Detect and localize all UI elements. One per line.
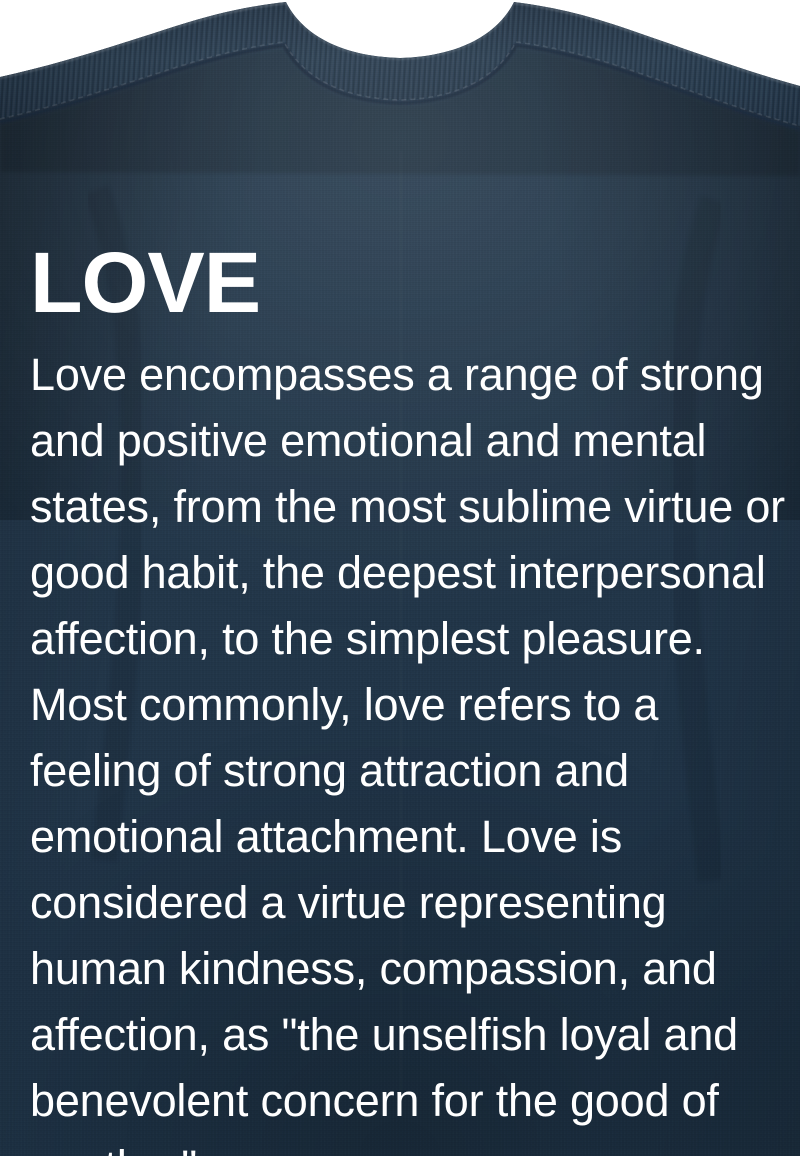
product-photo: LOVE Love encompasses a range of strong … <box>0 0 800 1156</box>
print-heading: LOVE <box>30 236 786 330</box>
shirt-print: LOVE Love encompasses a range of strong … <box>30 236 786 1156</box>
print-body-text: Love encompasses a range of strong and p… <box>30 342 786 1156</box>
